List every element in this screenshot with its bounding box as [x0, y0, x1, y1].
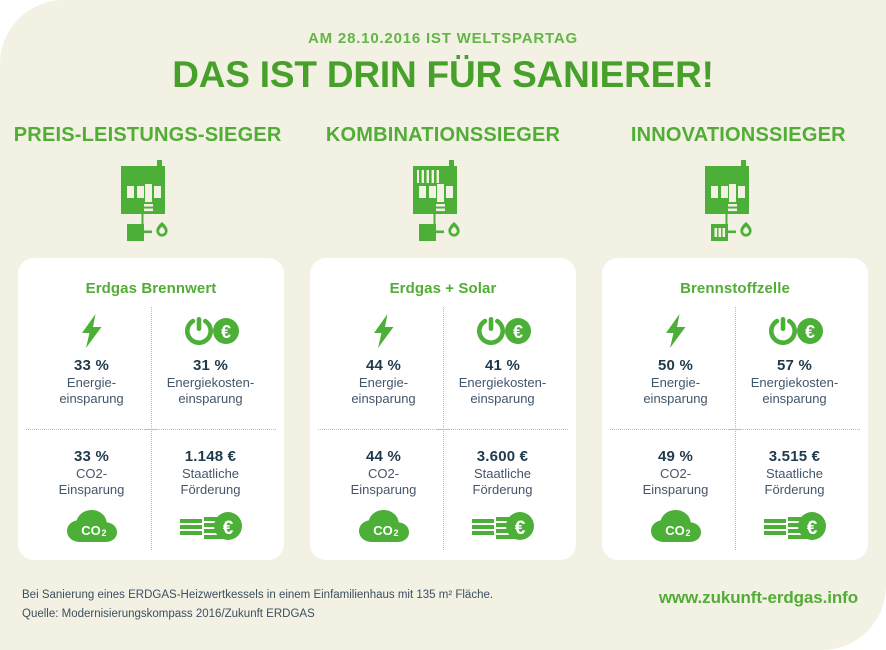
- house-icon-wrapper-1: [18, 160, 284, 258]
- metric-value: 41 %: [485, 357, 520, 374]
- metric-cell-foerderung-1: 1.148 € Staatliche Förderung: [151, 430, 270, 560]
- lightning-bolt-icon: [371, 311, 397, 351]
- metric-value: 44 %: [366, 357, 401, 374]
- power-euro-icon: €: [475, 311, 531, 351]
- metric-value: 3.600 €: [477, 448, 528, 465]
- website-url-link[interactable]: www.zukunft-erdgas.info: [659, 588, 858, 608]
- metrics-grid-1: 33 % Energie- einsparung 33 % CO2- Ein: [32, 301, 270, 560]
- svg-text:2: 2: [101, 528, 106, 538]
- metrics-left-1: 33 % Energie- einsparung 33 % CO2- Ein: [32, 301, 151, 560]
- svg-text:CO: CO: [81, 523, 101, 538]
- kicker-text: AM 28.10.2016 IST WELTSPARTAG: [0, 30, 886, 47]
- metric-cell-foerderung-3: 3.515 € Staatliche Förderung: [735, 430, 854, 560]
- svg-text:€: €: [220, 322, 230, 342]
- metric-label: Staatliche Förderung: [765, 466, 825, 498]
- source-footnote: Bei Sanierung eines ERDGAS-Heizwertkesse…: [22, 586, 493, 624]
- house-gas-boiler-icon: [115, 160, 187, 246]
- lightning-bolt-icon: [79, 311, 105, 351]
- house-icon-wrapper-2: [310, 160, 576, 258]
- metrics-grid-2: 44 % Energie- einsparung 44 % CO2- Ein: [324, 301, 562, 560]
- metrics-right-2: € 41 % Energiekosten- einsparung 3.600: [443, 301, 562, 560]
- metric-cell-co2-1: 33 % CO2- Einsparung CO 2: [32, 430, 151, 560]
- metric-label-line1: CO2-: [660, 466, 691, 481]
- metric-label-line2: Förderung: [765, 482, 825, 497]
- svg-text:2: 2: [393, 528, 398, 538]
- metrics-right-3: € 57 % Energiekosten- einsparung 3.515: [735, 301, 854, 560]
- svg-text:€: €: [806, 518, 817, 539]
- metric-label-line1: Energie-: [359, 375, 408, 390]
- money-euro-icon: €: [762, 504, 828, 548]
- metrics-card-2: Erdgas + Solar 44 % Energie- einsparung: [310, 258, 576, 560]
- metric-value: 44 %: [366, 448, 401, 465]
- svg-text:€: €: [804, 322, 814, 342]
- metric-label-line1: Staatliche: [182, 466, 239, 481]
- metric-cell-energie-1: 33 % Energie- einsparung: [32, 301, 151, 429]
- column-brennstoffzelle: Brennstoffzelle 50 % Energie- einsparung: [602, 160, 868, 560]
- card-title-3: Brennstoffzelle: [616, 258, 854, 301]
- footnote-line-2: Quelle: Modernisierungskompass 2016/Zuku…: [22, 605, 493, 624]
- metric-label-line1: CO2-: [368, 466, 399, 481]
- footnote-line-1: Bei Sanierung eines ERDGAS-Heizwertkesse…: [22, 586, 493, 605]
- metric-label: Staatliche Förderung: [181, 466, 241, 498]
- comparison-columns: Erdgas Brennwert 33 % Energie- einsparun…: [18, 160, 868, 560]
- metrics-card-1: Erdgas Brennwert 33 % Energie- einsparun…: [18, 258, 284, 560]
- house-icon-wrapper-3: [602, 160, 868, 258]
- metric-value: 33 %: [74, 448, 109, 465]
- metric-label-line1: Energie-: [67, 375, 116, 390]
- award-title-preis-leistungs-sieger: PREIS-LEISTUNGS-SIEGER: [0, 124, 295, 147]
- metric-label-line1: Energiekosten-: [459, 375, 546, 390]
- house-fuelcell-icon: [699, 160, 771, 246]
- co2-cloud-icon: CO 2: [356, 504, 412, 548]
- metric-label-line2: Förderung: [181, 482, 241, 497]
- metric-value: 49 %: [658, 448, 693, 465]
- metric-label-line2: einsparung: [762, 391, 826, 406]
- co2-cloud-icon: CO 2: [648, 504, 704, 548]
- metric-value: 1.148 €: [185, 448, 236, 465]
- metric-label: CO2- Einsparung: [59, 466, 125, 498]
- money-euro-icon: €: [178, 504, 244, 548]
- metric-label-line1: Energie-: [651, 375, 700, 390]
- metrics-card-3: Brennstoffzelle 50 % Energie- einsparung: [602, 258, 868, 560]
- metric-label-line1: Staatliche: [474, 466, 531, 481]
- metric-label: CO2- Einsparung: [643, 466, 709, 498]
- metric-label-line1: Energiekosten-: [167, 375, 254, 390]
- metric-cell-foerderung-2: 3.600 € Staatliche Förderung: [443, 430, 562, 560]
- metric-cell-energiekosten-2: € 41 % Energiekosten- einsparung: [443, 301, 562, 429]
- metric-label-line1: Staatliche: [766, 466, 823, 481]
- column-erdgas-brennwert: Erdgas Brennwert 33 % Energie- einsparun…: [18, 160, 284, 560]
- card-title-2: Erdgas + Solar: [324, 258, 562, 301]
- metric-label-line1: Energiekosten-: [751, 375, 838, 390]
- metrics-right-1: € 31 % Energiekosten- einsparung 1.148: [151, 301, 270, 560]
- metric-label: Energiekosten- einsparung: [167, 375, 254, 407]
- page-title: DAS IST DRIN FÜR SANIERER!: [0, 55, 886, 96]
- metric-cell-co2-2: 44 % CO2- Einsparung CO 2: [324, 430, 443, 560]
- metric-label: Energie- einsparung: [59, 375, 123, 407]
- metric-label-line2: Einsparung: [59, 482, 125, 497]
- power-euro-icon: €: [183, 311, 239, 351]
- award-title-row: PREIS-LEISTUNGS-SIEGER KOMBINATIONSSIEGE…: [0, 124, 886, 147]
- metric-label: Staatliche Förderung: [473, 466, 533, 498]
- metric-label-line2: einsparung: [59, 391, 123, 406]
- svg-text:CO: CO: [373, 523, 393, 538]
- card-title-1: Erdgas Brennwert: [32, 258, 270, 301]
- svg-text:€: €: [222, 518, 233, 539]
- metric-label-line2: Einsparung: [351, 482, 417, 497]
- metric-label-line2: Förderung: [473, 482, 533, 497]
- award-title-kombinationssieger: KOMBINATIONSSIEGER: [295, 124, 590, 147]
- metric-label-line2: einsparung: [470, 391, 534, 406]
- metric-cell-co2-3: 49 % CO2- Einsparung CO 2: [616, 430, 735, 560]
- metric-cell-energiekosten-1: € 31 % Energiekosten- einsparung: [151, 301, 270, 429]
- award-title-innovationssieger: INNOVATIONSSIEGER: [591, 124, 886, 147]
- metric-label: Energie- einsparung: [643, 375, 707, 407]
- svg-text:2: 2: [685, 528, 690, 538]
- svg-text:CO: CO: [665, 523, 685, 538]
- lightning-bolt-icon: [663, 311, 689, 351]
- metric-label-line2: Einsparung: [643, 482, 709, 497]
- metric-label-line1: CO2-: [76, 466, 107, 481]
- metric-label: Energiekosten- einsparung: [751, 375, 838, 407]
- metric-value: 3.515 €: [769, 448, 820, 465]
- metric-label-line2: einsparung: [178, 391, 242, 406]
- infographic-poster: AM 28.10.2016 IST WELTSPARTAG DAS IST DR…: [0, 0, 886, 650]
- metric-value: 57 %: [777, 357, 812, 374]
- svg-text:€: €: [514, 518, 525, 539]
- co2-cloud-icon: CO 2: [64, 504, 120, 548]
- house-solar-gas-boiler-icon: [407, 160, 479, 246]
- power-euro-icon: €: [767, 311, 823, 351]
- metric-label: CO2- Einsparung: [351, 466, 417, 498]
- metric-cell-energie-2: 44 % Energie- einsparung: [324, 301, 443, 429]
- metric-value: 33 %: [74, 357, 109, 374]
- metric-label: Energiekosten- einsparung: [459, 375, 546, 407]
- metric-label-line2: einsparung: [351, 391, 415, 406]
- metric-value: 50 %: [658, 357, 693, 374]
- metrics-left-2: 44 % Energie- einsparung 44 % CO2- Ein: [324, 301, 443, 560]
- money-euro-icon: €: [470, 504, 536, 548]
- svg-text:€: €: [512, 322, 522, 342]
- metrics-left-3: 50 % Energie- einsparung 49 % CO2- Ein: [616, 301, 735, 560]
- metric-value: 31 %: [193, 357, 228, 374]
- metric-label-line2: einsparung: [643, 391, 707, 406]
- metrics-grid-3: 50 % Energie- einsparung 49 % CO2- Ein: [616, 301, 854, 560]
- metric-label: Energie- einsparung: [351, 375, 415, 407]
- metric-cell-energiekosten-3: € 57 % Energiekosten- einsparung: [735, 301, 854, 429]
- column-erdgas-solar: Erdgas + Solar 44 % Energie- einsparung: [310, 160, 576, 560]
- metric-cell-energie-3: 50 % Energie- einsparung: [616, 301, 735, 429]
